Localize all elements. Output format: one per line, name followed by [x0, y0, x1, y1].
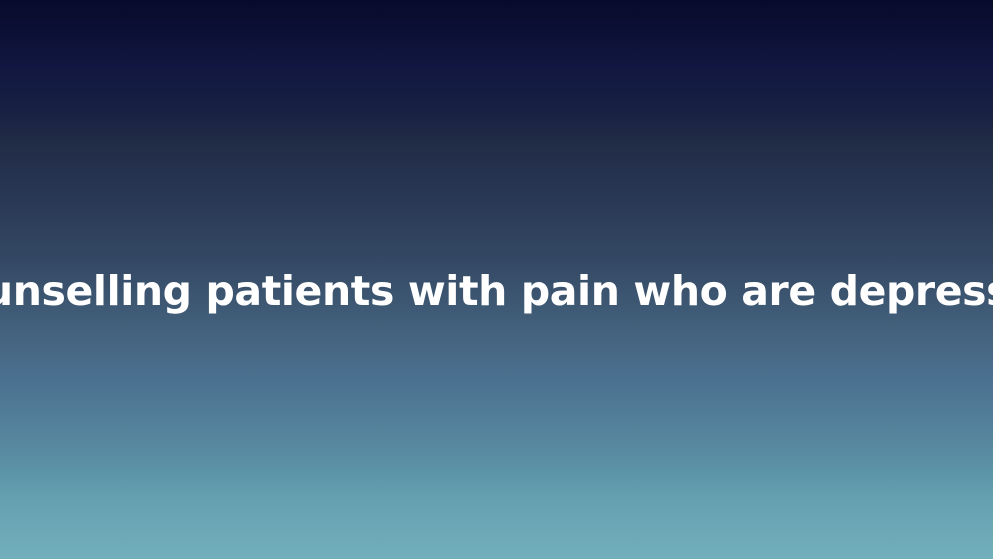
slide-title-block: Counselling patients with pain who are d… [0, 264, 993, 320]
slide-title: Counselling patients with pain who are d… [0, 270, 993, 313]
presentation-slide: Counselling patients with pain who are d… [0, 0, 993, 559]
